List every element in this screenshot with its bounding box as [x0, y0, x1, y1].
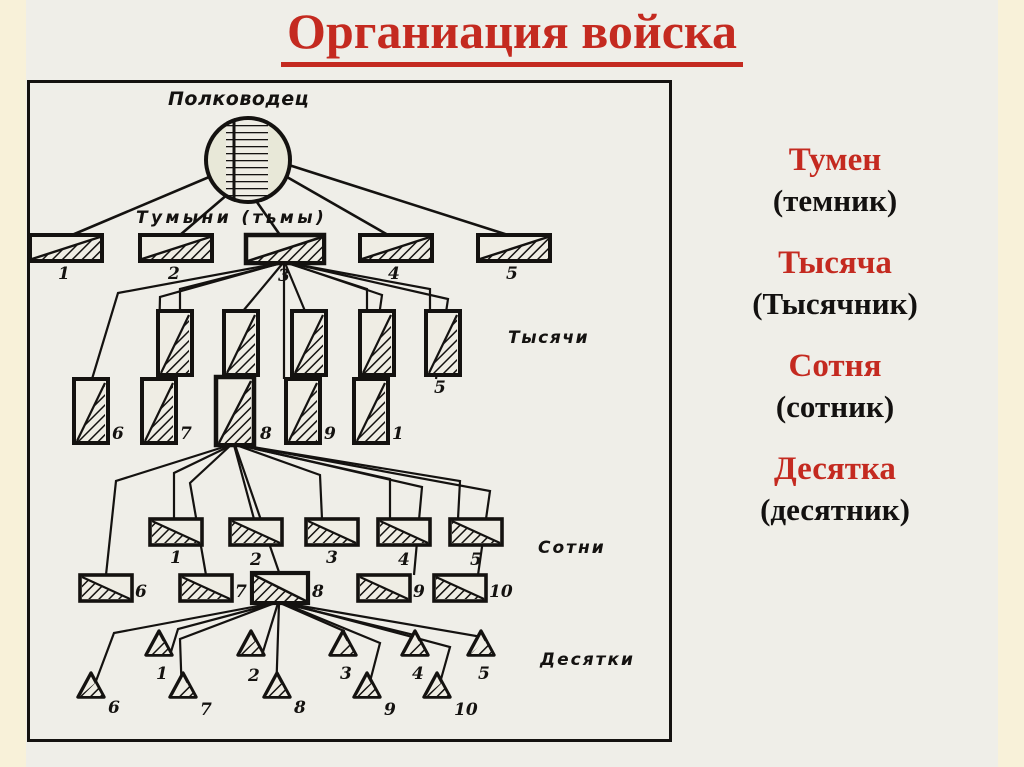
ten-node: 1 — [146, 631, 172, 684]
ten-node: 3 — [330, 631, 356, 684]
node-number: 1 — [58, 264, 70, 284]
node-number: 8 — [293, 698, 306, 718]
legend-term: Тысяча — [680, 243, 990, 284]
hundred-node: 1 — [150, 519, 202, 568]
thousand-node: 6 — [74, 379, 124, 444]
ten-node: 4 — [402, 631, 428, 684]
legend-subtitle: (темник) — [680, 181, 990, 221]
commander-label: Полководец — [168, 88, 309, 110]
thousand-nodes-row2: 6 7 8 9 — [74, 377, 404, 445]
hundred-node: 5 — [450, 519, 502, 570]
node-number: 4 — [412, 664, 424, 684]
level-label-thousands: Тысячи — [508, 328, 589, 348]
legend-group-thousand: Тысяча (Тысячник) — [680, 243, 990, 324]
legend-group-hundred: Сотня (сотник) — [680, 346, 990, 427]
node-number: 5 — [478, 664, 490, 684]
left-edge-strip — [0, 0, 26, 767]
node-number: 10 — [489, 582, 513, 602]
node-number: 3 — [340, 664, 352, 684]
legend-group-tumen: Тумен (темник) — [680, 140, 990, 221]
level-label-tens: Десятки — [539, 650, 635, 670]
node-number: 7 — [180, 424, 192, 444]
hundred-node: 4 — [378, 519, 430, 570]
level-label-tumens: Тумыни (тьмы) — [136, 208, 327, 228]
node-number: 9 — [384, 700, 396, 720]
node-number: 10 — [454, 700, 478, 720]
node-number: 9 — [413, 582, 425, 602]
node-number: 8 — [259, 424, 272, 444]
ten-node: 10 — [424, 673, 478, 720]
legend-term: Сотня — [680, 346, 990, 387]
ten-node: 8 — [264, 673, 306, 718]
tumen-nodes: 1 2 3 4 — [30, 235, 550, 286]
node-number: 6 — [135, 582, 147, 602]
hundred-node: 6 — [80, 575, 147, 602]
tumen-node: 1 — [30, 235, 102, 284]
node-number: 1 — [156, 664, 168, 684]
hundred-node: 3 — [306, 519, 358, 568]
node-number: 6 — [112, 424, 124, 444]
hundred-node: 9 — [358, 575, 425, 602]
army-hierarchy-diagram: Полководец Тумыни (тьмы) 1 2 — [30, 83, 669, 739]
node-number: 5 — [506, 264, 518, 284]
level-label-hundreds: Сотни — [538, 538, 606, 558]
legend-subtitle: (десятник) — [680, 490, 990, 530]
tumen-node: 5 — [478, 235, 550, 284]
hundred-nodes-row2: 6 7 8 9 — [80, 573, 513, 603]
node-number: 7 — [235, 582, 247, 602]
connector-lines-hundreds — [106, 445, 490, 575]
legend-subtitle: (Тысячник) — [680, 284, 990, 324]
legend-term: Тумен — [680, 140, 990, 181]
node-number: 4 — [398, 550, 410, 570]
node-number: 3 — [326, 548, 338, 568]
page-title-text: Органиация войска — [281, 2, 743, 67]
thousand-node: 9 — [286, 379, 336, 444]
hundred-node: 2 — [230, 519, 282, 570]
legend-group-ten: Десятка (десятник) — [680, 449, 990, 530]
node-number: 2 — [249, 550, 262, 570]
hundred-node: 7 — [180, 575, 247, 602]
node-number: 5 — [470, 550, 482, 570]
node-number: 8 — [311, 582, 324, 602]
node-number: 1 — [170, 548, 182, 568]
ten-node: 7 — [170, 673, 212, 720]
node-number: 6 — [108, 698, 120, 718]
thousand-node: 7 — [142, 379, 192, 444]
diagram-container: Полководец Тумыни (тьмы) 1 2 — [27, 80, 672, 742]
legend-subtitle: (сотник) — [680, 387, 990, 427]
node-number: 7 — [200, 700, 212, 720]
tumen-node: 4 — [360, 235, 432, 284]
node-number: 9 — [324, 424, 336, 444]
hundred-node: 10 — [434, 575, 513, 602]
ten-node: 2 — [238, 631, 264, 686]
page-title: Органиация войска — [26, 2, 998, 72]
legend-panel: Тумен (темник) Тысяча (Тысячник) Сотня (… — [680, 140, 990, 552]
legend-term: Десятка — [680, 449, 990, 490]
node-number: 5 — [434, 378, 446, 398]
node-number: 2 — [247, 666, 260, 686]
right-edge-strip — [998, 0, 1024, 767]
ten-node: 9 — [354, 673, 396, 720]
thousand-node: 5 — [426, 311, 460, 398]
commander-node — [206, 118, 290, 202]
ten-node: 6 — [78, 673, 120, 718]
ten-node: 5 — [468, 631, 494, 684]
hundred-node-active: 8 — [252, 573, 324, 603]
node-number: 1 — [392, 424, 404, 444]
thousand-node: 1 — [354, 379, 404, 444]
slide-root: Органиация войска — [0, 0, 1024, 767]
thousand-node-active: 8 — [216, 377, 272, 445]
